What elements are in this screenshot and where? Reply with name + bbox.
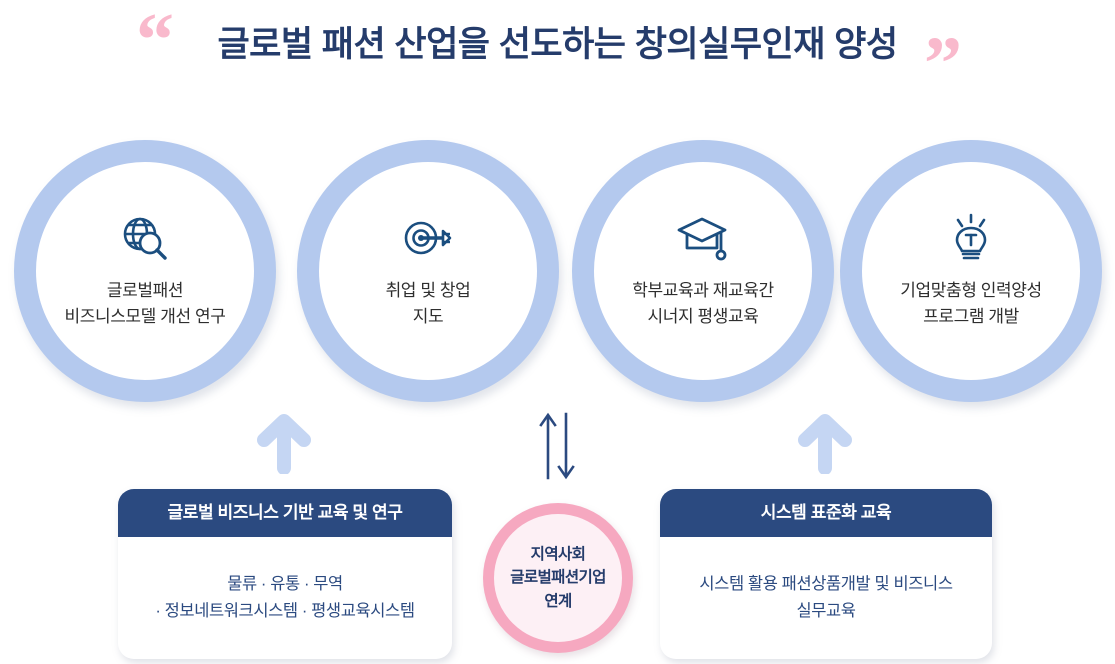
bottom-card-body: 물류 · 유통 · 무역 · 정보네트워크시스템 · 평생교육시스템 xyxy=(118,537,452,659)
goal-circle-label-line2: 시너지 평생교육 xyxy=(632,304,773,330)
goal-circle-label-line1: 기업맞춤형 인력양성 xyxy=(900,278,1041,304)
goal-circle-label-line2: 지도 xyxy=(386,304,471,330)
goal-circle-inner: 기업맞춤형 인력양성 프로그램 개발 xyxy=(862,162,1080,380)
bottom-card-header: 시스템 표준화 교육 xyxy=(660,489,992,537)
quote-close-icon: ” xyxy=(924,26,962,102)
center-node-label-line1: 지역사회 xyxy=(510,543,606,566)
goal-circles-row: 글로벌패션 비즈니스모델 개선 연구 xyxy=(0,140,1115,402)
graduation-cap-icon xyxy=(675,212,731,264)
lightbulb-icon xyxy=(943,212,999,264)
bottom-card-body-line2: 실무교육 xyxy=(796,598,855,625)
bottom-card-header: 글로벌 비즈니스 기반 교육 및 연구 xyxy=(118,489,452,537)
goal-circle-employment[interactable]: 취업 및 창업 지도 xyxy=(297,140,559,402)
bottom-card-body-line2: · 정보네트워크시스템 · 평생교육시스템 xyxy=(155,598,414,625)
center-node-community-link[interactable]: 지역사회 글로벌패션기업 연계 xyxy=(483,503,633,653)
title-block: “ 글로벌 패션 산업을 선도하는 창의실무인재 양성 ” xyxy=(0,0,1115,105)
bottom-card-body-line1: 시스템 활용 패션상품개발 및 비즈니스 xyxy=(699,571,952,598)
goal-circle-label-line1: 학부교육과 재교육간 xyxy=(632,278,773,304)
arrow-up-icon xyxy=(793,412,857,474)
globe-search-icon xyxy=(117,212,173,264)
goal-circle-inner: 글로벌패션 비즈니스모델 개선 연구 xyxy=(36,162,254,380)
goal-circle-custom-program[interactable]: 기업맞춤형 인력양성 프로그램 개발 xyxy=(840,140,1102,402)
goal-circle-label: 취업 및 창업 지도 xyxy=(386,278,471,331)
goal-circle-label-line1: 취업 및 창업 xyxy=(386,278,471,304)
goal-circle-inner: 취업 및 창업 지도 xyxy=(319,162,537,380)
arrow-up-down-pair xyxy=(535,412,581,480)
center-node-inner: 지역사회 글로벌패션기업 연계 xyxy=(494,514,622,642)
bottom-card-body-line1: 물류 · 유통 · 무역 xyxy=(227,571,343,598)
arrow-up-icon xyxy=(252,412,316,474)
bottom-card-system-standardization[interactable]: 시스템 표준화 교육 시스템 활용 패션상품개발 및 비즈니스 실무교육 xyxy=(660,489,992,659)
center-node-label-line2: 글로벌패션기업 xyxy=(510,566,606,589)
goal-circle-label-line2: 비즈니스모델 개선 연구 xyxy=(64,304,225,330)
goal-circle-label: 글로벌패션 비즈니스모델 개선 연구 xyxy=(64,278,225,331)
goal-circle-label-line1: 글로벌패션 xyxy=(64,278,225,304)
target-dart-icon xyxy=(400,212,456,264)
bottom-card-global-business[interactable]: 글로벌 비즈니스 기반 교육 및 연구 물류 · 유통 · 무역 · 정보네트워… xyxy=(118,489,452,659)
goal-circle-inner: 학부교육과 재교육간 시너지 평생교육 xyxy=(594,162,812,380)
goal-circle-label: 기업맞춤형 인력양성 프로그램 개발 xyxy=(900,278,1041,331)
goal-circle-label-line2: 프로그램 개발 xyxy=(900,304,1041,330)
center-node-label-line3: 연계 xyxy=(510,590,606,613)
goal-circle-global-fashion[interactable]: 글로벌패션 비즈니스모델 개선 연구 xyxy=(14,140,276,402)
goal-circle-lifelong-education[interactable]: 학부교육과 재교육간 시너지 평생교육 xyxy=(572,140,834,402)
bottom-card-body: 시스템 활용 패션상품개발 및 비즈니스 실무교육 xyxy=(660,537,992,659)
center-node-label: 지역사회 글로벌패션기업 연계 xyxy=(510,543,606,613)
goal-circle-label: 학부교육과 재교육간 시너지 평생교육 xyxy=(632,278,773,331)
